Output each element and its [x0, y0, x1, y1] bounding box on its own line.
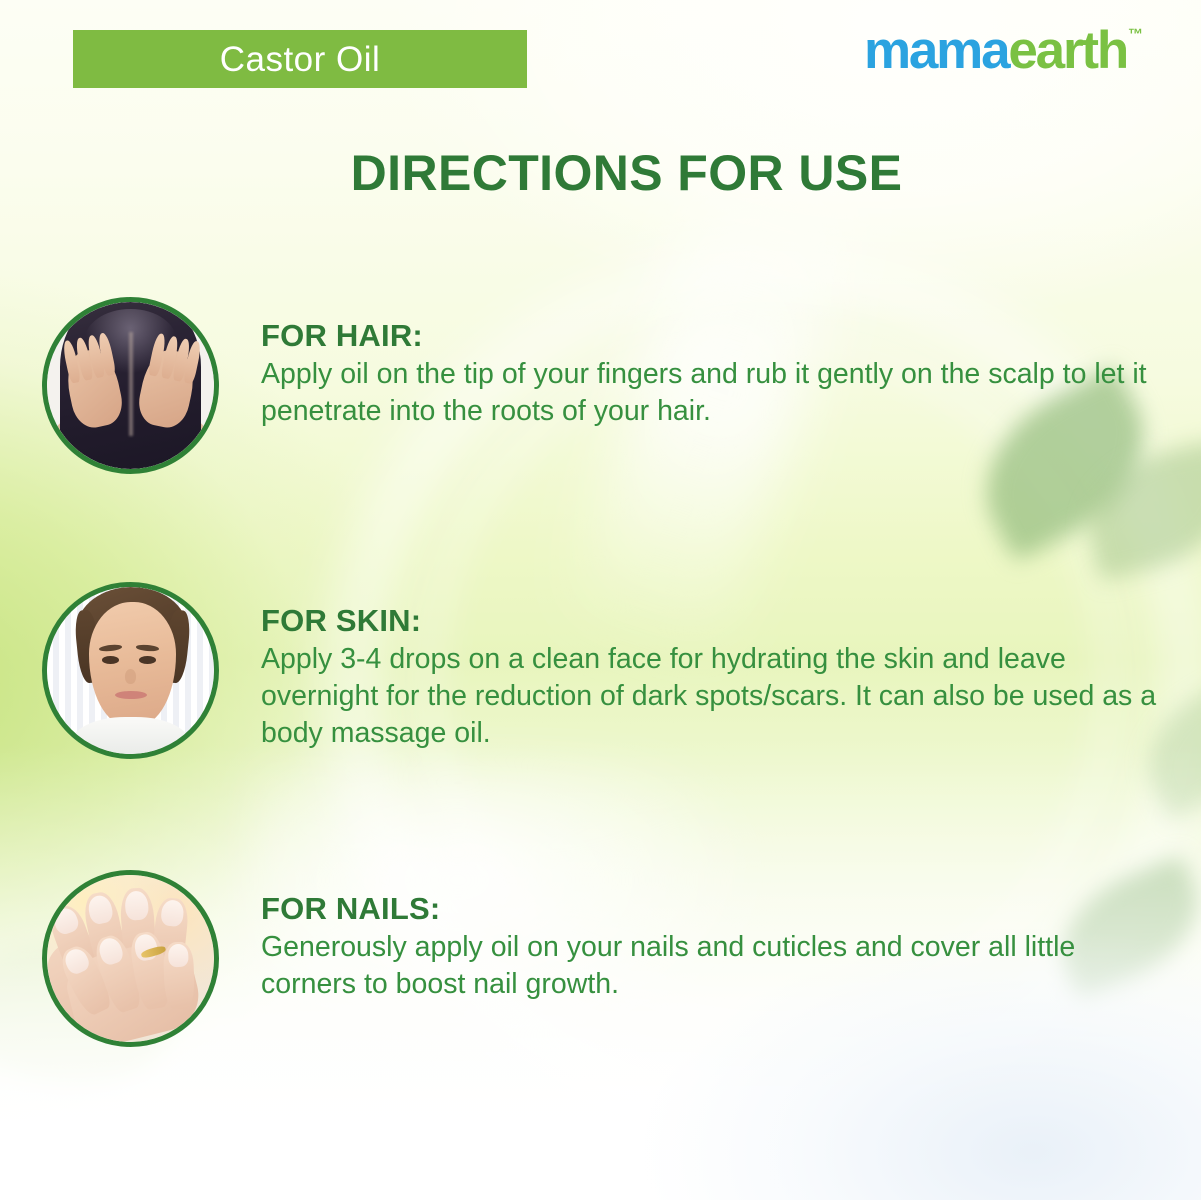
direction-section-nails: FOR NAILS: Generously apply oil on your … — [42, 870, 1172, 1047]
hair-label: FOR HAIR: — [261, 319, 1172, 354]
brand-logo-mama: mama — [864, 24, 1008, 77]
product-infographic: Castor Oil mama earth ™ DIRECTIONS FOR U… — [0, 0, 1201, 1200]
nails-body: Generously apply oil on your nails and c… — [261, 929, 1172, 1003]
hands-illustration-icon — [47, 875, 214, 1042]
hair-thumbnail — [42, 297, 219, 474]
trademark-icon: ™ — [1128, 27, 1143, 42]
skin-thumbnail — [42, 582, 219, 759]
nails-text-block: FOR NAILS: Generously apply oil on your … — [261, 870, 1172, 1003]
hair-body: Apply oil on the tip of your fingers and… — [261, 356, 1172, 430]
nails-thumbnail — [42, 870, 219, 1047]
product-name-chip: Castor Oil — [73, 30, 527, 88]
face-illustration-icon — [47, 587, 214, 754]
skin-text-block: FOR SKIN: Apply 3-4 drops on a clean fac… — [261, 582, 1172, 752]
nails-label: FOR NAILS: — [261, 892, 1172, 927]
brand-logo: mama earth ™ — [864, 24, 1143, 77]
brand-logo-earth: earth — [1008, 24, 1127, 77]
direction-section-hair: FOR HAIR: Apply oil on the tip of your f… — [42, 297, 1172, 474]
skin-label: FOR SKIN: — [261, 604, 1172, 639]
page-title: DIRECTIONS FOR USE — [0, 146, 1201, 201]
skin-body: Apply 3-4 drops on a clean face for hydr… — [261, 641, 1172, 752]
direction-section-skin: FOR SKIN: Apply 3-4 drops on a clean fac… — [42, 582, 1172, 759]
hair-text-block: FOR HAIR: Apply oil on the tip of your f… — [261, 297, 1172, 430]
product-name-label: Castor Oil — [220, 42, 381, 77]
hair-illustration-icon — [47, 302, 214, 469]
